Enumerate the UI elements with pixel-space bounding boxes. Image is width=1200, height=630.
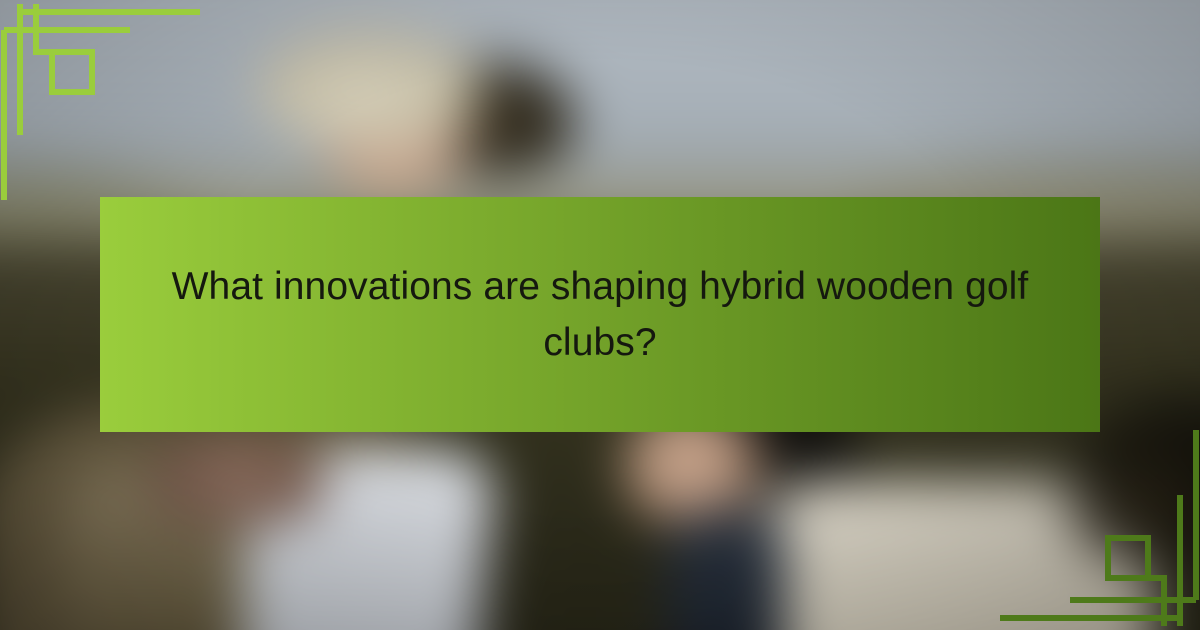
corner-ornament-bottom-right (970, 400, 1200, 630)
page-title: What innovations are shaping hybrid wood… (164, 259, 1036, 370)
ornament-square (1108, 538, 1148, 578)
corner-ornament-top-left (0, 0, 230, 230)
ornament-square (52, 52, 92, 92)
share-card: What innovations are shaping hybrid wood… (0, 0, 1200, 630)
headline-banner: What innovations are shaping hybrid wood… (100, 197, 1100, 432)
